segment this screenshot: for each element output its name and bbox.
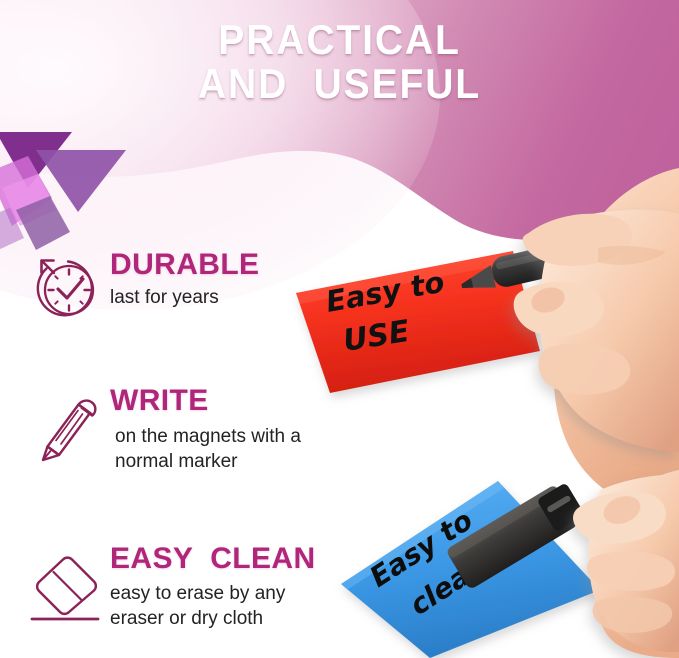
feature-durable: DURABLE last for years [28,248,358,366]
eraser-block [445,479,587,590]
feature-write-body: on the magnets with a normal marker [110,424,358,474]
title-line-1: PRACTICAL [24,18,655,62]
feature-durable-body: last for years [110,285,358,310]
hand-upper [514,210,679,452]
eraser-icon [28,550,104,626]
header-title: PRACTICAL AND USEFUL [0,18,679,106]
blue-magnet-card [341,481,600,658]
feature-easy-clean: EASY CLEAN easy to erase by any eraser o… [28,542,358,652]
infographic-page: Easy to USE [0,0,679,658]
pencil-icon [28,390,104,466]
svg-text:clean: clean [404,548,492,621]
feature-list: DURABLE last for years [28,248,358,652]
feature-write: WRITE on the magnets with a normal marke… [28,384,358,524]
feature-easy-clean-body: easy to erase by any eraser or dry cloth [110,581,358,631]
clock-check-icon [28,250,104,326]
title-line-2: AND USEFUL [24,62,655,106]
blue-card-handwriting: Easy to clean [364,503,492,621]
feature-durable-heading: DURABLE [110,248,358,282]
hand-lower [573,470,679,658]
feature-easy-clean-heading: EASY CLEAN [110,542,358,576]
feature-write-heading: WRITE [110,384,358,418]
svg-text:Easy to: Easy to [364,503,479,593]
